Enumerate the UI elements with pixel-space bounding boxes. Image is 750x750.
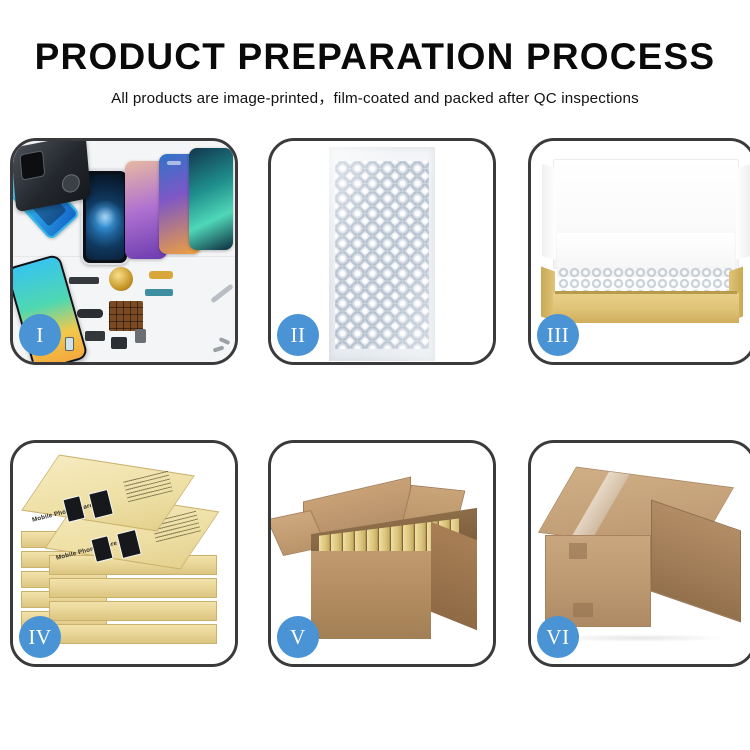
carton-side-face xyxy=(651,500,741,623)
steps-row-1: I II xyxy=(10,138,740,440)
step-panel-6[interactable]: VI xyxy=(528,440,750,667)
kraft-box-front-icon xyxy=(553,293,739,323)
gold-coil-icon xyxy=(109,267,133,291)
plastic-sheen xyxy=(329,147,435,361)
step-panel-4[interactable]: Mobile Phone Spare Parts Mobile Phone Sp… xyxy=(10,440,238,667)
carton-handle-tab xyxy=(569,543,587,559)
stacked-box-edge xyxy=(49,578,217,598)
step-badge-4: IV xyxy=(19,616,61,658)
carton-handle-tab xyxy=(573,603,593,617)
camera-module-icon xyxy=(77,309,103,318)
step-badge-5: V xyxy=(277,616,319,658)
carton-front-face xyxy=(311,551,431,639)
teal-phone-screen-icon xyxy=(189,148,233,250)
tweezers-icon xyxy=(210,284,234,304)
box-inner-edge xyxy=(555,291,737,294)
carton-right-face xyxy=(431,522,477,631)
screw-icon xyxy=(213,345,225,352)
gold-connector-icon xyxy=(149,271,173,279)
screw-icon xyxy=(219,337,231,345)
page-subtitle: All products are image-printed，film-coat… xyxy=(0,89,750,108)
page-title: PRODUCT PREPARATION PROCESS xyxy=(0,36,750,78)
flex-cable-icon xyxy=(69,277,99,284)
product-preparation-infographic: PRODUCT PREPARATION PROCESS All products… xyxy=(0,0,750,750)
step-panel-1[interactable]: I xyxy=(10,138,238,365)
circuit-board-icon xyxy=(109,301,143,331)
header: PRODUCT PREPARATION PROCESS All products… xyxy=(0,36,750,108)
step-badge-1: I xyxy=(19,314,61,356)
button-part-icon xyxy=(111,337,127,349)
bubble-wrap-sleeve-icon xyxy=(329,147,435,361)
speaker-part-icon xyxy=(85,331,105,341)
steps-grid: I II xyxy=(10,138,740,742)
battery-part-icon xyxy=(65,337,74,351)
steps-row-2: Mobile Phone Spare Parts Mobile Phone Sp… xyxy=(10,440,740,742)
sim-tray-icon xyxy=(135,329,146,343)
stacked-box-edge xyxy=(49,601,217,621)
step-badge-3: III xyxy=(537,314,579,356)
step-panel-5[interactable]: V xyxy=(268,440,496,667)
stacked-box-edge xyxy=(49,624,217,644)
step-badge-2: II xyxy=(277,314,319,356)
step-panel-3[interactable]: III xyxy=(528,138,750,365)
step-badge-6: VI xyxy=(537,616,579,658)
phone-back-housing-icon xyxy=(13,141,91,212)
carton-front-face xyxy=(545,535,651,627)
step-panel-2[interactable]: II xyxy=(268,138,496,365)
ribbon-cable-icon xyxy=(145,289,173,296)
